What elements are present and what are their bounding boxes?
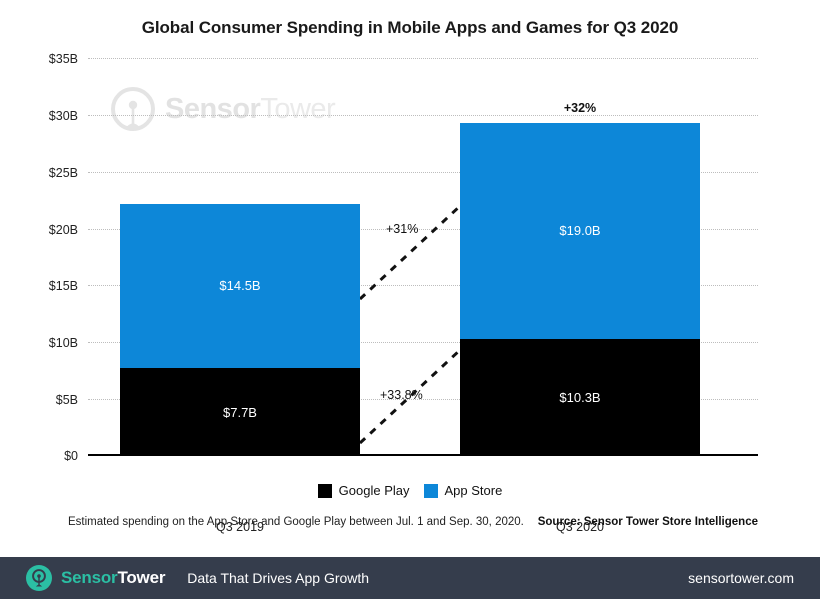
- chart-card: Global Consumer Spending in Mobile Apps …: [0, 0, 820, 555]
- footnote-row: Estimated spending on the App Store and …: [68, 516, 758, 528]
- x-axis-line: [88, 454, 758, 456]
- sensortower-logo-icon: [26, 565, 52, 591]
- bar-segment-google-play-2019[interactable]: $7.7B: [120, 368, 360, 456]
- bar-group-q3-2020[interactable]: $19.0B $10.3B: [460, 123, 700, 456]
- footer-url[interactable]: sensortower.com: [688, 570, 794, 586]
- y-axis-tick-15b: $15B: [49, 279, 78, 293]
- legend-label-google-play: Google Play: [339, 483, 410, 498]
- chart-legend: Google Play App Store: [0, 483, 820, 498]
- y-axis-tick-10b: $10B: [49, 336, 78, 350]
- y-axis-tick-20b: $20B: [49, 223, 78, 237]
- app-store-growth-connector: [360, 206, 460, 299]
- footer-brand[interactable]: SensorTower: [26, 565, 165, 591]
- bar-segment-app-store-2019[interactable]: $14.5B: [120, 204, 360, 369]
- footnote-text: Estimated spending on the App Store and …: [68, 516, 524, 528]
- total-growth-label: +32%: [460, 101, 700, 115]
- legend-swatch-app-store: [424, 484, 438, 498]
- bar-label-app-store-2019: $14.5B: [219, 278, 260, 293]
- y-axis-tick-25b: $25B: [49, 166, 78, 180]
- app-store-growth-label: +31%: [386, 222, 418, 236]
- footer-logo-light: Tower: [117, 568, 165, 587]
- y-axis-tick-5b: $5B: [56, 393, 78, 407]
- google-play-growth-label: +33.8%: [380, 388, 423, 402]
- plot-area: $35B $30B $25B $20B $15B $10B $5B $0 +31…: [88, 58, 758, 456]
- y-axis-tick-35b: $35B: [49, 52, 78, 66]
- bar-label-google-play-2020: $10.3B: [559, 390, 600, 405]
- bar-label-google-play-2019: $7.7B: [223, 405, 257, 420]
- bar-group-q3-2019[interactable]: $14.5B $7.7B: [120, 204, 360, 457]
- bar-segment-google-play-2020[interactable]: $10.3B: [460, 339, 700, 456]
- legend-swatch-google-play: [318, 484, 332, 498]
- footer-bar: SensorTower Data That Drives App Growth …: [0, 557, 820, 599]
- y-axis-tick-0: $0: [64, 449, 78, 463]
- source-text: Source: Sensor Tower Store Intelligence: [538, 516, 758, 528]
- page-title: Global Consumer Spending in Mobile Apps …: [0, 18, 820, 38]
- bar-label-app-store-2020: $19.0B: [559, 223, 600, 238]
- footer-logo-bold: Sensor: [61, 568, 117, 587]
- y-axis-tick-30b: $30B: [49, 109, 78, 123]
- footer-tagline: Data That Drives App Growth: [187, 570, 369, 586]
- footer-logo-text: SensorTower: [61, 568, 165, 588]
- bar-segment-app-store-2020[interactable]: $19.0B: [460, 123, 700, 339]
- legend-item-app-store[interactable]: App Store: [424, 483, 503, 498]
- legend-label-app-store: App Store: [445, 483, 503, 498]
- legend-item-google-play[interactable]: Google Play: [318, 483, 410, 498]
